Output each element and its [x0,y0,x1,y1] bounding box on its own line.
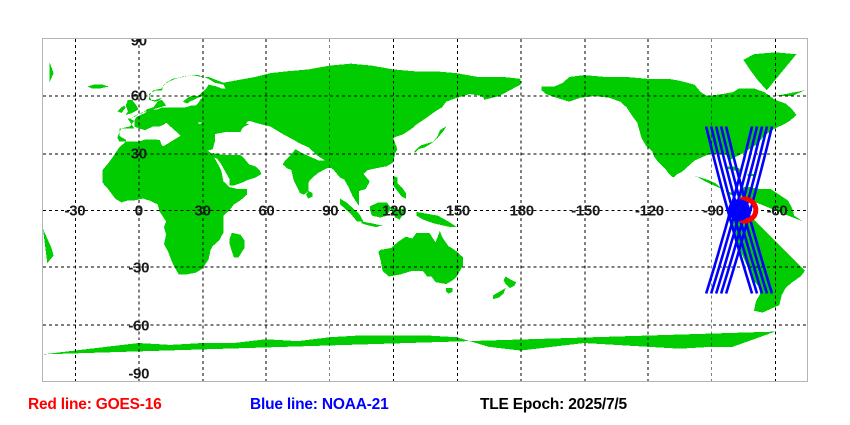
legend-entry-noaa21: Blue line: NOAA-21 [250,397,389,413]
x-tick-label-neg60: -60 [767,204,788,219]
y-tick-label-neg60: -60 [128,318,149,333]
legend-entry-tle-epoch: TLE Epoch: 2025/7/5 [480,397,627,413]
satellite-ground-track-map: -300306090120150180-150-120-90-609060300… [0,0,850,425]
map-plot-area: -300306090120150180-150-120-90-609060300… [42,38,808,382]
x-tick-label-60: 60 [258,204,274,219]
y-tick-label-0: 0 [135,204,143,219]
y-tick-label-60: 60 [131,89,147,104]
x-tick-label-30: 30 [195,204,211,219]
x-tick-label-180: 180 [510,204,534,219]
y-tick-label-90: 90 [131,38,147,49]
world-map-landmass [43,39,807,381]
y-tick-label-neg30: -30 [128,261,149,276]
legend: Red line: GOES-16 Blue line: NOAA-21 TLE… [0,393,850,421]
y-tick-label-neg90: -90 [128,367,149,382]
x-tick-label-neg30: -30 [65,204,86,219]
x-tick-label-90: 90 [322,204,338,219]
x-tick-label-neg150: -150 [571,204,600,219]
legend-entry-goes16: Red line: GOES-16 [28,397,162,413]
y-tick-label-30: 30 [131,146,147,161]
x-tick-label-120: 120 [382,204,406,219]
x-tick-label-150: 150 [446,204,470,219]
x-tick-label-neg120: -120 [635,204,664,219]
x-tick-label-neg90: -90 [703,204,724,219]
